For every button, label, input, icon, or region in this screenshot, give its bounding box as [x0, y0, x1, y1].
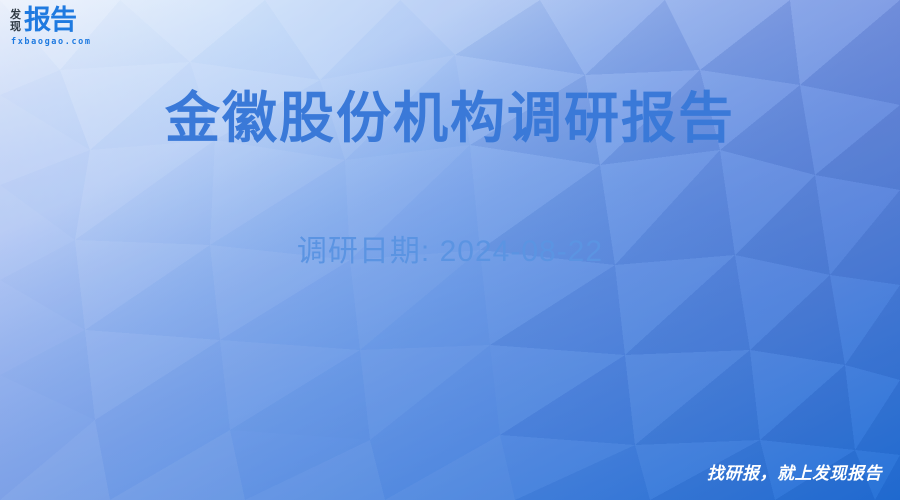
report-cover-slide: 发 现 报告 fxbaogao.com 金徽股份机构调研报告 调研日期: 202…: [0, 0, 900, 500]
footer-tagline: 找研报，就上发现报告: [707, 464, 882, 484]
brand-logo-mark-top: 发: [10, 9, 21, 21]
brand-logo-domain: fxbaogao.com: [11, 37, 92, 47]
survey-date-subtitle: 调研日期: 2024-08-22: [0, 232, 900, 272]
brand-logo[interactable]: 发 现 报告 fxbaogao.com: [10, 7, 92, 47]
brand-logo-wordmark: 报告: [24, 7, 76, 34]
brand-logo-mark-bottom: 现: [10, 21, 21, 33]
page-title: 金徽股份机构调研报告: [0, 86, 900, 150]
brand-logo-row: 发 现 报告: [10, 7, 76, 34]
brand-logo-mark: 发 现: [10, 9, 21, 34]
